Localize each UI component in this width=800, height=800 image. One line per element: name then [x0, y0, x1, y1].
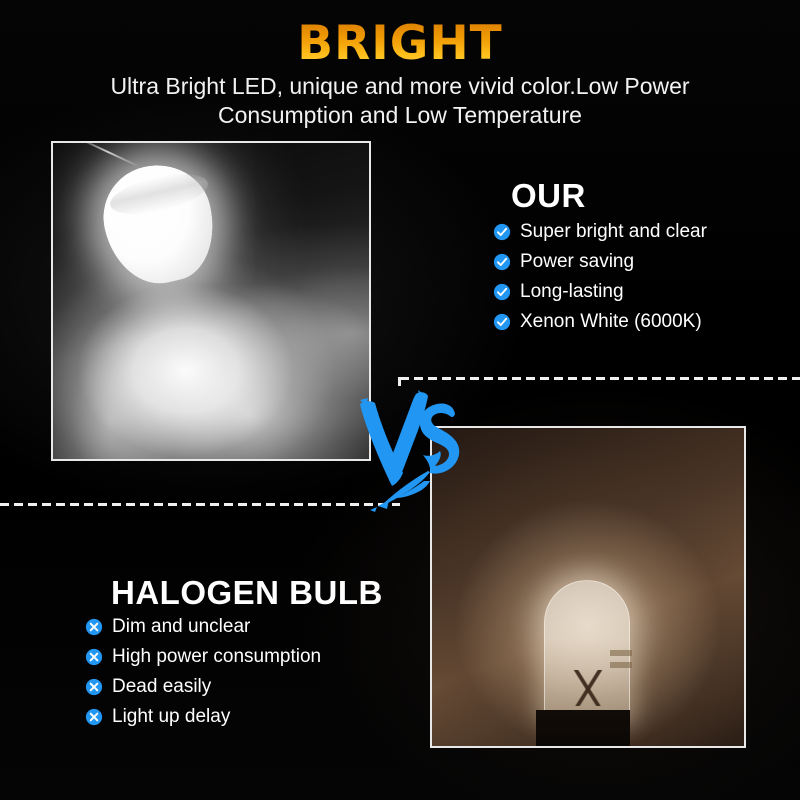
- list-item-label: Dead easily: [112, 676, 211, 698]
- cross-circle-icon: [85, 648, 103, 666]
- list-item: Power saving: [493, 248, 707, 276]
- halogen-feature-list: Dim and unclear High power consumption D…: [85, 613, 321, 733]
- list-item: Xenon White (6000K): [493, 308, 707, 336]
- list-item: Long-lasting: [493, 278, 707, 306]
- list-item: Dim and unclear: [85, 613, 321, 641]
- list-item: Light up delay: [85, 703, 321, 731]
- check-circle-icon: [493, 283, 511, 301]
- halogen-filament: [562, 670, 614, 706]
- versus-icon: [358, 388, 468, 513]
- list-item-label: Long-lasting: [520, 281, 624, 303]
- check-circle-icon: [493, 313, 511, 331]
- our-section-heading: OUR: [511, 178, 586, 214]
- list-item: Dead easily: [85, 673, 321, 701]
- cross-circle-icon: [85, 618, 103, 636]
- list-item: High power consumption: [85, 643, 321, 671]
- cross-circle-icon: [85, 678, 103, 696]
- divider-dashed-top: [400, 377, 800, 380]
- halogen-bulb-base: [536, 710, 630, 748]
- cross-circle-icon: [85, 708, 103, 726]
- halogen-bulb-photo: [430, 426, 746, 748]
- list-item-label: Power saving: [520, 251, 634, 273]
- led-bulb-photo: [51, 141, 371, 461]
- list-item-label: Super bright and clear: [520, 221, 707, 243]
- page-title: BRIGHT: [0, 18, 800, 70]
- product-comparison-poster: BRIGHT Ultra Bright LED, unique and more…: [0, 0, 800, 800]
- led-beam-glow: [53, 143, 369, 459]
- check-circle-icon: [493, 223, 511, 241]
- our-feature-list: Super bright and clear Power saving Long…: [493, 218, 707, 338]
- page-subtitle: Ultra Bright LED, unique and more vivid …: [60, 72, 740, 130]
- check-circle-icon: [493, 253, 511, 271]
- divider-dashed-bottom: [0, 503, 400, 506]
- list-item-label: Dim and unclear: [112, 616, 250, 638]
- list-item-label: High power consumption: [112, 646, 321, 668]
- list-item-label: Xenon White (6000K): [520, 311, 702, 333]
- list-item: Super bright and clear: [493, 218, 707, 246]
- list-item-label: Light up delay: [112, 706, 230, 728]
- halogen-section-heading: HALOGEN BULB: [111, 575, 383, 611]
